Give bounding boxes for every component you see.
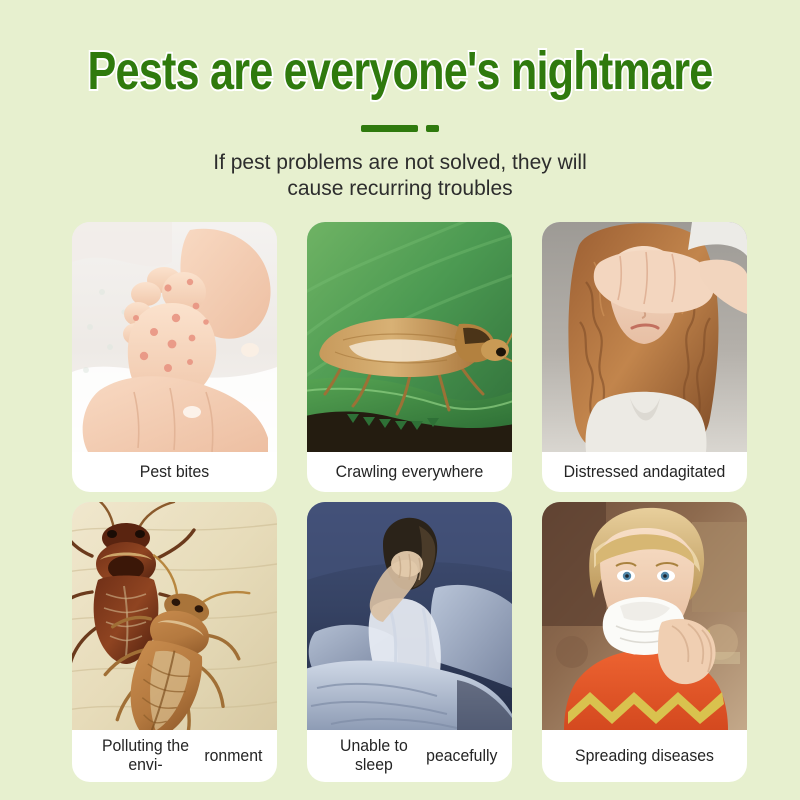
- divider-long-bar: [361, 125, 418, 132]
- subtitle-line-2: cause recurring troubles: [0, 176, 800, 202]
- divider-short-bar: [426, 125, 439, 132]
- subtitle-line-1: If pest problems are not solved, they wi…: [0, 150, 800, 176]
- card-spreading-diseases[interactable]: Spreading diseases: [542, 502, 747, 782]
- caption-line-1: Polluting the envi-: [87, 736, 205, 774]
- card-pest-bites[interactable]: Pest bites: [72, 222, 277, 492]
- card-distressed-and-agitated[interactable]: Distressed and agitated: [542, 222, 747, 492]
- page-subtitle: If pest problems are not solved, they wi…: [0, 150, 800, 202]
- caption-text: Crawling everywhere: [336, 462, 484, 481]
- caption-line-1: Distressed and: [564, 462, 669, 481]
- caption-text: Spreading diseases: [575, 746, 714, 765]
- caption-line-2: agitated: [669, 462, 725, 481]
- card-caption-crawling-everywhere: Crawling everywhere: [314, 452, 505, 492]
- card-polluting-the-environment[interactable]: Polluting the envi- ronment: [72, 502, 277, 782]
- card-caption-pest-bites: Pest bites: [79, 452, 270, 492]
- page-title: Pests are everyone's nightmare: [80, 44, 720, 98]
- caption-line-1: Unable to sleep: [322, 736, 427, 774]
- card-image-pest-bites: [72, 222, 277, 452]
- card-image-polluting-the-environment: [72, 502, 277, 730]
- card-image-crawling-everywhere: [307, 222, 512, 452]
- card-image-unable-to-sleep-peacefully: [307, 502, 512, 730]
- title-divider: [0, 124, 800, 133]
- card-caption-spreading-diseases: Spreading diseases: [549, 730, 740, 782]
- card-caption-unable-to-sleep-peacefully: Unable to sleep peacefully: [314, 730, 505, 782]
- card-image-spreading-diseases: [542, 502, 747, 730]
- pest-problem-card-grid: Pest bites: [72, 222, 742, 782]
- caption-line-2: peacefully: [426, 746, 497, 765]
- card-caption-polluting-the-environment: Polluting the envi- ronment: [79, 730, 270, 782]
- caption-text: Pest bites: [140, 462, 209, 481]
- card-caption-distressed-and-agitated: Distressed and agitated: [549, 452, 740, 492]
- caption-line-2: ronment: [204, 746, 262, 765]
- card-unable-to-sleep-peacefully[interactable]: Unable to sleep peacefully: [307, 502, 512, 782]
- card-crawling-everywhere[interactable]: Crawling everywhere: [307, 222, 512, 492]
- card-image-distressed-and-agitated: [542, 222, 747, 452]
